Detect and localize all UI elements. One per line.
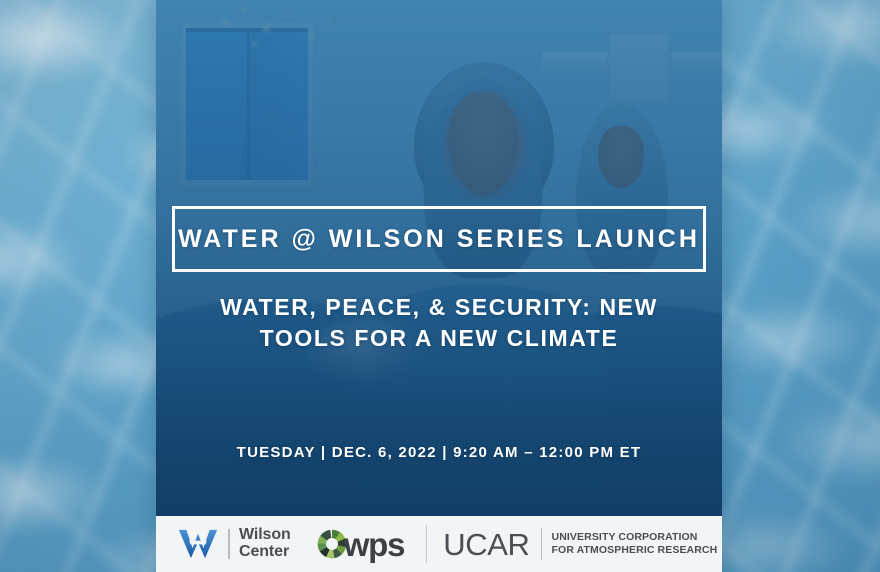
event-title-line-1: WATER, PEACE, & SECURITY: NEW — [182, 292, 696, 323]
wilson-center-word-line-1: Wilson — [239, 527, 291, 544]
wilson-center-logo: Wilson Center — [178, 527, 291, 560]
event-title: WATER, PEACE, & SECURITY: NEW TOOLS FOR … — [182, 292, 696, 354]
wps-circle-mosaic-icon — [317, 529, 347, 559]
ucar-tagline: UNIVERSITY CORPORATION FOR ATMOSPHERIC R… — [552, 531, 718, 557]
ucar-tagline-line-2: FOR ATMOSPHERIC RESEARCH — [552, 544, 718, 557]
sponsor-logo-bar: Wilson Center — [156, 516, 722, 572]
wilson-center-divider — [228, 529, 230, 559]
event-datetime: TUESDAY | DEC. 6, 2022 | 9:20 AM – 12:00… — [172, 444, 706, 461]
poster-panel: WATER @ WILSON SERIES LAUNCH WATER, PEAC… — [156, 0, 722, 572]
series-kicker-frame: WATER @ WILSON SERIES LAUNCH — [172, 206, 706, 272]
event-promo-poster: WATER @ WILSON SERIES LAUNCH WATER, PEAC… — [0, 0, 880, 572]
series-kicker-text: WATER @ WILSON SERIES LAUNCH — [178, 227, 700, 252]
ucar-logo: UCAR UNIVERSITY CORPORATION FOR ATMOSPHE… — [443, 528, 717, 560]
wps-wordmark: wps — [344, 528, 405, 561]
poster-text-content: WATER @ WILSON SERIES LAUNCH WATER, PEAC… — [156, 0, 722, 572]
wilson-center-wordmark: Wilson Center — [239, 527, 291, 560]
wilson-center-word-line-2: Center — [239, 544, 291, 561]
logo-bar-divider — [426, 525, 427, 563]
wilson-center-w-icon — [178, 528, 218, 560]
ucar-tagline-line-1: UNIVERSITY CORPORATION — [552, 531, 718, 544]
ucar-divider — [541, 528, 542, 560]
ucar-wordmark: UCAR — [443, 529, 529, 560]
event-title-line-2: TOOLS FOR A NEW CLIMATE — [182, 323, 696, 354]
wps-logo: wps — [317, 528, 405, 561]
